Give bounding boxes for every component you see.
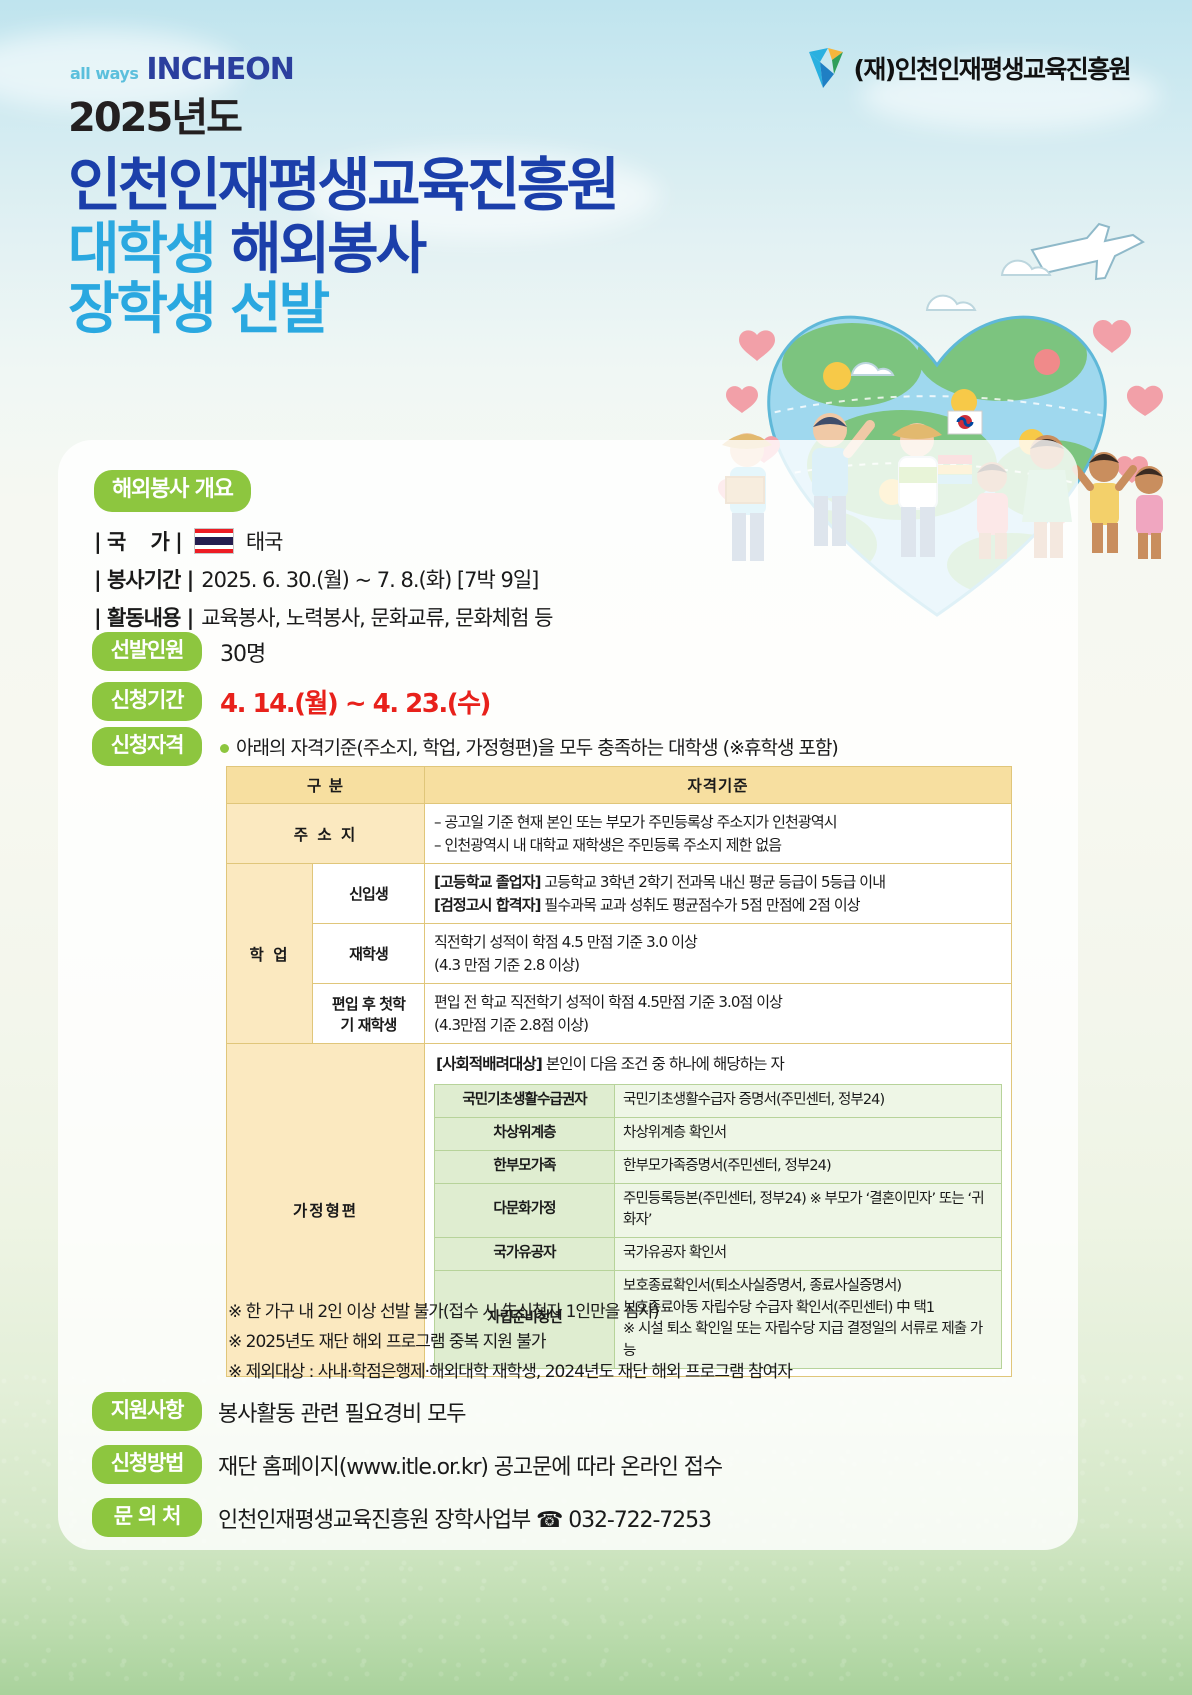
title-subtitle-line2: 대학생 해외봉사: [68, 219, 616, 282]
bottom-row-apply-method: 신청방법 재단 홈페이지(www.itle.or.kr) 공고문에 따라 온라인…: [92, 1445, 722, 1484]
overview-label-activity: | 활동내용 |: [94, 602, 193, 632]
poster-title-block: 2025년도 인천인재평생교육진흥원 대학생 해외봉사 장학생 선발: [68, 98, 616, 342]
bottom-info-section: 지원사항 봉사활동 관련 필요경비 모두 신청방법 재단 홈페이지(www.it…: [92, 1392, 722, 1551]
family-subrow-single-parent: 한부모가족 한부모가족증명서(주민센터, 정부24): [435, 1150, 1002, 1183]
academic-subcat-enrolled: 재학생: [313, 924, 425, 984]
table-row-academic-new: 학 업 신입생 [고등학교 졸업자] 고등학교 3학년 2학기 전과목 내신 평…: [227, 864, 1012, 924]
application-period-row: 신청기간 4. 14.(월) ~ 4. 23.(수): [92, 682, 490, 721]
family-value-veteran: 국가유공자 확인서: [615, 1238, 1002, 1271]
selection-count-value: 30명: [220, 636, 265, 668]
notes-section: ※ 한 가구 내 2인 이상 선발 불가(접수 시 先신청자 1인만을 심사) …: [228, 1298, 792, 1387]
city-brand-name: INCHEON: [146, 52, 294, 87]
family-subrow-veteran: 국가유공자 국가유공자 확인서: [435, 1238, 1002, 1271]
academic-new-line-1: [고등학교 졸업자] 고등학교 3학년 2학기 전과목 내신 평균 등급이 5등…: [434, 871, 1002, 894]
family-value-single-parent: 한부모가족증명서(주민센터, 정부24): [615, 1150, 1002, 1183]
eligibility-lead-text: 아래의 자격기준(주소지, 학업, 가정형편)을 모두 충족하는 대학생 (※휴…: [220, 733, 838, 760]
family-key-near-poverty: 차상위계층: [435, 1118, 615, 1151]
family-heading-rest: 본인이 다음 조건 중 하나에 해당하는 자: [542, 1055, 784, 1073]
overview-value-country: 태국: [246, 526, 283, 556]
selection-count-chip: 선발인원: [92, 632, 202, 671]
family-subrow-near-poverty: 차상위계층 차상위계층 확인서: [435, 1118, 1002, 1151]
table-row-academic-enrolled: 재학생 직전학기 성적이 학점 4.5 만점 기준 3.0 이상 (4.3 만점…: [227, 924, 1012, 984]
overview-value-activity: 교육봉사, 노력봉사, 문화교류, 문화체험 등: [201, 602, 552, 632]
academic-new-line-2: [검정고시 합격자] 필수과목 교과 성취도 평균점수가 5점 만점에 2점 이…: [434, 894, 1002, 917]
qualification-table: 구 분 자격기준 주 소 지 – 공고일 기준 현재 본인 또는 부모가 주민등…: [226, 766, 1012, 1377]
family-value-multicultural: 주민등록등본(주민센터, 정부24) ※ 부모가 ‘결혼이민자’ 또는 ‘귀화자…: [615, 1183, 1002, 1238]
contact-chip: 문 의 처: [92, 1498, 202, 1537]
academic-transfer-line-1: 편입 전 학교 직전학기 성적이 학점 4.5만점 기준 3.0점 이상: [434, 991, 1002, 1014]
note-item: ※ 한 가구 내 2인 이상 선발 불가(접수 시 先신청자 1인만을 심사): [228, 1298, 792, 1328]
family-value-basic-living: 국민기초생활수급자 증명서(주민센터, 정부24): [615, 1085, 1002, 1118]
overview-rows: | 국 가 | 태국 | 봉사기간 | 2025. 6. 30.(월) ~ 7.…: [94, 526, 552, 632]
incheon-city-logo: all ways INCHEON: [70, 52, 294, 87]
title-subtitle-a: 대학생: [68, 217, 214, 282]
support-chip: 지원사항: [92, 1392, 202, 1431]
selection-count-row: 선발인원 30명: [92, 632, 265, 671]
overview-label-country: | 국 가 |: [94, 526, 182, 556]
bottom-row-support: 지원사항 봉사활동 관련 필요경비 모두: [92, 1392, 722, 1431]
overview-section: 해외봉사 개요 | 국 가 | 태국 | 봉사기간 | 2025. 6. 30.…: [94, 470, 552, 640]
academic-transfer-line-2: (4.3만점 기준 2.8점 이상): [434, 1014, 1002, 1037]
table-row-residence: 주 소 지 – 공고일 기준 현재 본인 또는 부모가 주민등록상 주소지가 인…: [227, 804, 1012, 864]
family-key-multicultural: 다문화가정: [435, 1183, 615, 1238]
overview-row-period: | 봉사기간 | 2025. 6. 30.(월) ~ 7. 8.(화) [7박 …: [94, 564, 552, 594]
city-brand-prefix: all ways: [70, 64, 138, 83]
academic-new-bold-2: [검정고시 합격자]: [434, 896, 541, 914]
eligibility-chip: 신청자격: [92, 727, 202, 766]
academic-category-label: 학 업: [227, 864, 313, 1044]
table-header-category: 구 분: [227, 767, 425, 804]
overview-chip: 해외봉사 개요: [94, 470, 251, 512]
triangle-arrow-logo-icon: [806, 46, 846, 90]
poster-header: all ways INCHEON (재)인천인재평생교육진흥원: [0, 24, 1192, 84]
family-heading: [사회적배려대상] 본인이 다음 조건 중 하나에 해당하는 자: [434, 1051, 1002, 1078]
eligibility-row: 신청자격 아래의 자격기준(주소지, 학업, 가정형편)을 모두 충족하는 대학…: [92, 727, 838, 766]
support-value: 봉사활동 관련 필요경비 모두: [218, 1396, 465, 1428]
family-subrow-basic-living: 국민기초생활수급권자 국민기초생활수급자 증명서(주민센터, 정부24): [435, 1085, 1002, 1118]
academic-enrolled-line-1: 직전학기 성적이 학점 4.5 만점 기준 3.0 이상: [434, 931, 1002, 954]
thailand-flag-icon: [194, 528, 234, 554]
overview-row-country: | 국 가 | 태국: [94, 526, 552, 556]
family-key-veteran: 국가유공자: [435, 1238, 615, 1271]
table-header-criteria: 자격기준: [425, 767, 1012, 804]
academic-subcat-transfer: 편입 후 첫학 기 재학생: [313, 984, 425, 1044]
table-header-row: 구 분 자격기준: [227, 767, 1012, 804]
table-row-academic-transfer: 편입 후 첫학 기 재학생 편입 전 학교 직전학기 성적이 학점 4.5만점 …: [227, 984, 1012, 1044]
bullet-dot-icon: [220, 744, 229, 753]
family-key-basic-living: 국민기초생활수급권자: [435, 1085, 615, 1118]
eligibility-lead-label: 아래의 자격기준(주소지, 학업, 가정형편)을 모두 충족하는 대학생 (※휴…: [236, 737, 838, 759]
family-value-near-poverty: 차상위계층 확인서: [615, 1118, 1002, 1151]
note-item: ※ 제외대상 : 사내·학점은행제·해외대학 재학생, 2024년도 재단 해외…: [228, 1358, 792, 1388]
overview-value-period: 2025. 6. 30.(월) ~ 7. 8.(화) [7박 9일]: [201, 564, 538, 594]
residence-criteria: – 공고일 기준 현재 본인 또는 부모가 주민등록상 주소지가 인천광역시 –…: [425, 804, 1012, 864]
academic-new-rest-1: 고등학교 3학년 2학기 전과목 내신 평균 등급이 5등급 이내: [541, 873, 886, 891]
residence-category-label: 주 소 지: [227, 804, 425, 864]
residence-line-2: – 인천광역시 내 대학교 재학생은 주민등록 주소지 제한 없음: [434, 834, 1002, 857]
academic-enrolled-line-2: (4.3 만점 기준 2.8 이상): [434, 954, 1002, 977]
academic-criteria-transfer: 편입 전 학교 직전학기 성적이 학점 4.5만점 기준 3.0점 이상 (4.…: [425, 984, 1012, 1044]
title-subtitle-line3: 장학생 선발: [68, 279, 616, 342]
academic-criteria-enrolled: 직전학기 성적이 학점 4.5 만점 기준 3.0 이상 (4.3 만점 기준 …: [425, 924, 1012, 984]
academic-subcat-new-student: 신입생: [313, 864, 425, 924]
contact-value: 인천인재평생교육진흥원 장학사업부 ☎ 032-722-7253: [218, 1502, 711, 1534]
family-subrow-multicultural: 다문화가정 주민등록등본(주민센터, 정부24) ※ 부모가 ‘결혼이민자’ 또…: [435, 1183, 1002, 1238]
overview-row-activity: | 활동내용 | 교육봉사, 노력봉사, 문화교류, 문화체험 등: [94, 602, 552, 632]
family-key-single-parent: 한부모가족: [435, 1150, 615, 1183]
title-year: 2025년도: [68, 98, 616, 138]
apply-method-value: 재단 홈페이지(www.itle.or.kr) 공고문에 따라 온라인 접수: [218, 1449, 722, 1481]
family-heading-bold: [사회적배려대상]: [436, 1055, 542, 1073]
application-period-value: 4. 14.(월) ~ 4. 23.(수): [220, 683, 490, 720]
organization-logo: (재)인천인재평생교육진흥원: [806, 46, 1130, 90]
title-subtitle-b: 해외봉사: [230, 217, 424, 282]
overview-label-period: | 봉사기간 |: [94, 564, 193, 594]
academic-new-bold-1: [고등학교 졸업자]: [434, 873, 541, 891]
residence-line-1: – 공고일 기준 현재 본인 또는 부모가 주민등록상 주소지가 인천광역시: [434, 811, 1002, 834]
bottom-row-contact: 문 의 처 인천인재평생교육진흥원 장학사업부 ☎ 032-722-7253: [92, 1498, 722, 1537]
application-period-chip: 신청기간: [92, 682, 202, 721]
academic-new-rest-2: 필수과목 교과 성취도 평균점수가 5점 만점에 2점 이상: [541, 896, 860, 914]
academic-criteria-new-student: [고등학교 졸업자] 고등학교 3학년 2학기 전과목 내신 평균 등급이 5등…: [425, 864, 1012, 924]
title-organization: 인천인재평생교육진흥원: [68, 154, 616, 217]
note-item: ※ 2025년도 재단 해외 프로그램 중복 지원 불가: [228, 1328, 792, 1358]
apply-method-chip: 신청방법: [92, 1445, 202, 1484]
organization-name: (재)인천인재평생교육진흥원: [854, 50, 1130, 86]
